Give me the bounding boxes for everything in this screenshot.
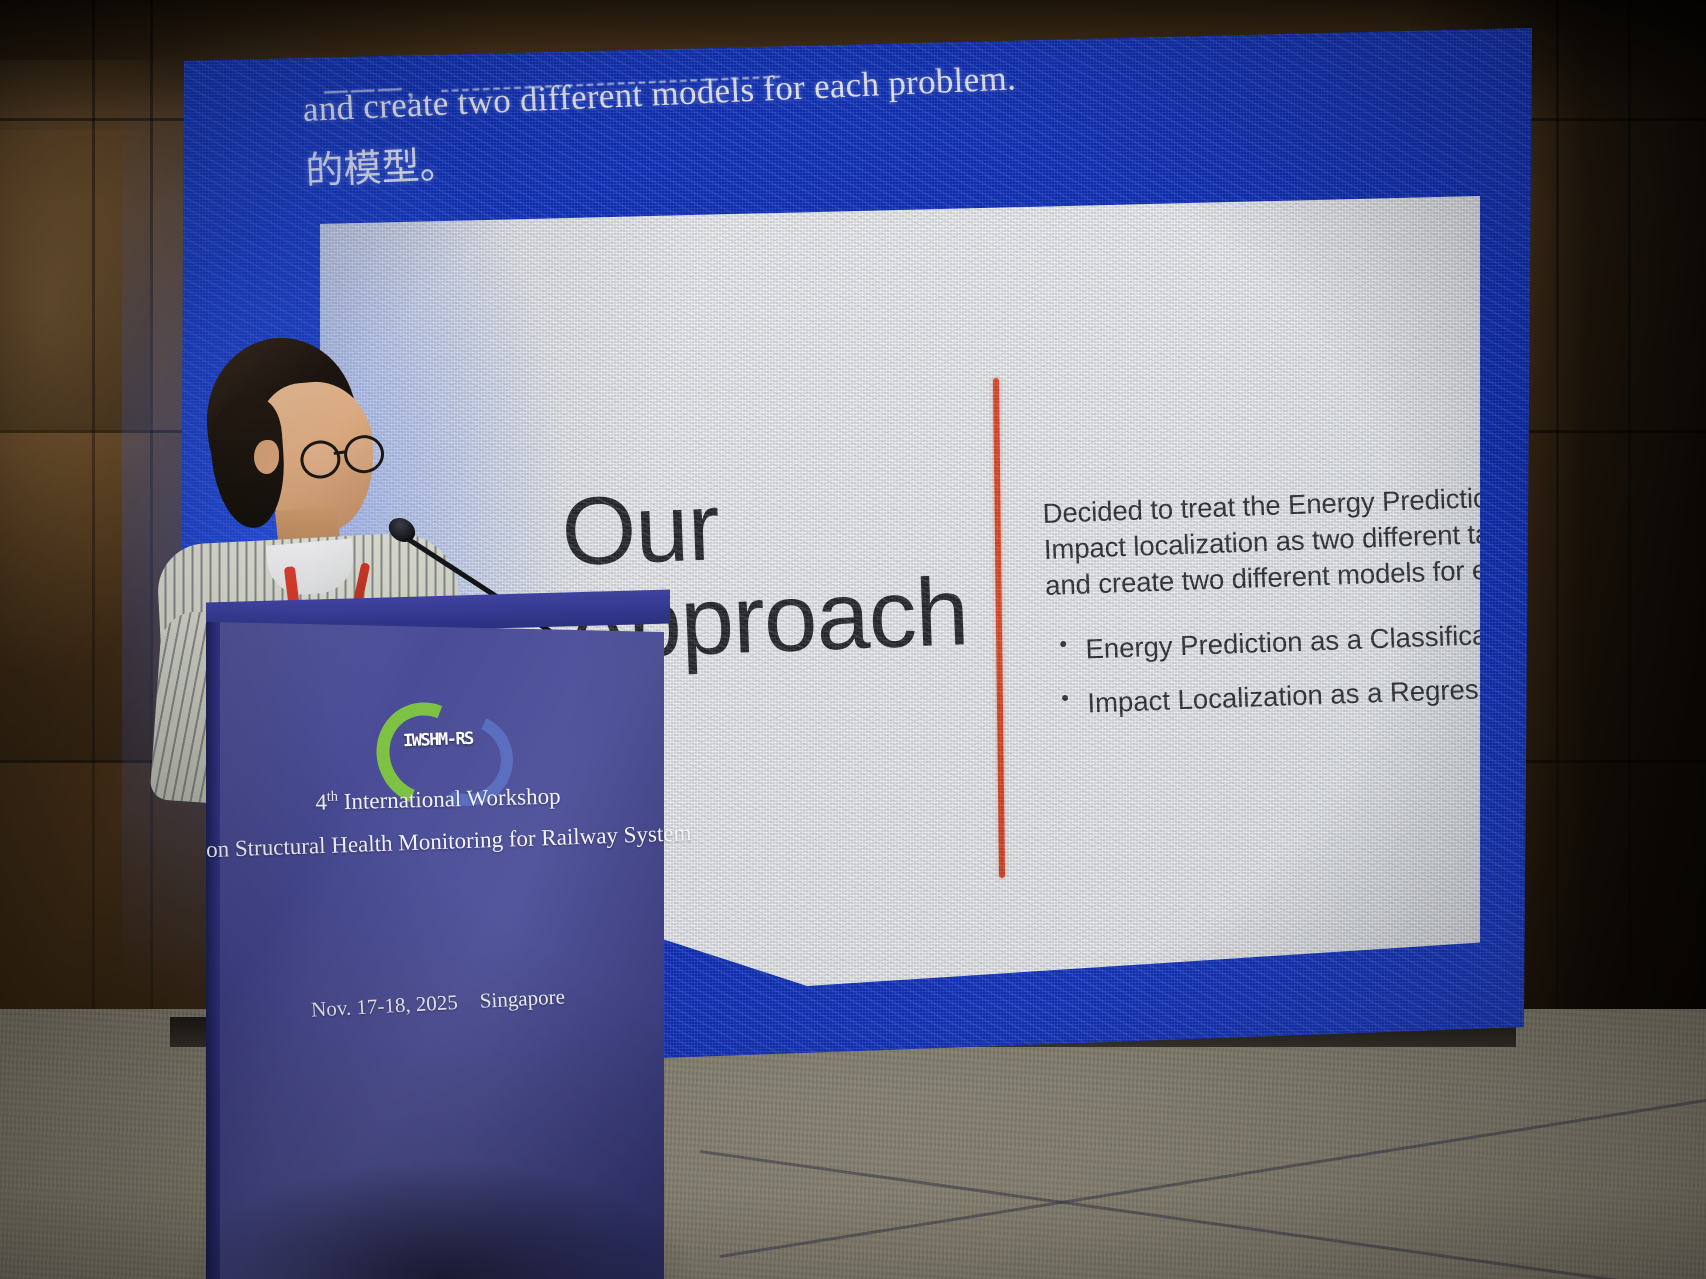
glasses-right-lens bbox=[342, 433, 386, 476]
wall-panel bbox=[0, 430, 150, 760]
wall-panel bbox=[0, 130, 150, 430]
podium-left-edge bbox=[206, 622, 220, 1279]
slide-bullet-item: Impact Localization as a Regression prob… bbox=[1049, 668, 1480, 722]
presenter-ear bbox=[254, 440, 279, 474]
workshop-ordinal-suffix: th bbox=[327, 789, 339, 805]
iwshm-rs-logo: IWSHM-RS bbox=[373, 696, 503, 788]
slide-bullet-list: Energy Prediction as a Classification pr… bbox=[1047, 615, 1480, 723]
workshop-city: Singapore bbox=[479, 984, 565, 1012]
accent-vertical-rule bbox=[993, 378, 1005, 878]
podium: IWSHM-RS 4th International Workshop on S… bbox=[206, 596, 670, 1279]
workshop-title-text: International Workshop bbox=[338, 783, 561, 814]
slide-body: Decided to treat the Energy Prediction A… bbox=[1042, 477, 1480, 740]
slide-body-paragraph: Decided to treat the Energy Prediction A… bbox=[1042, 477, 1480, 603]
workshop-ordinal-number: 4 bbox=[315, 790, 327, 815]
slide-bullet-item: Energy Prediction as a Classification pr… bbox=[1047, 615, 1480, 669]
conference-photo: 一一一， --------------------------------- a… bbox=[0, 0, 1706, 1279]
logo-wordmark: IWSHM-RS bbox=[403, 729, 474, 751]
